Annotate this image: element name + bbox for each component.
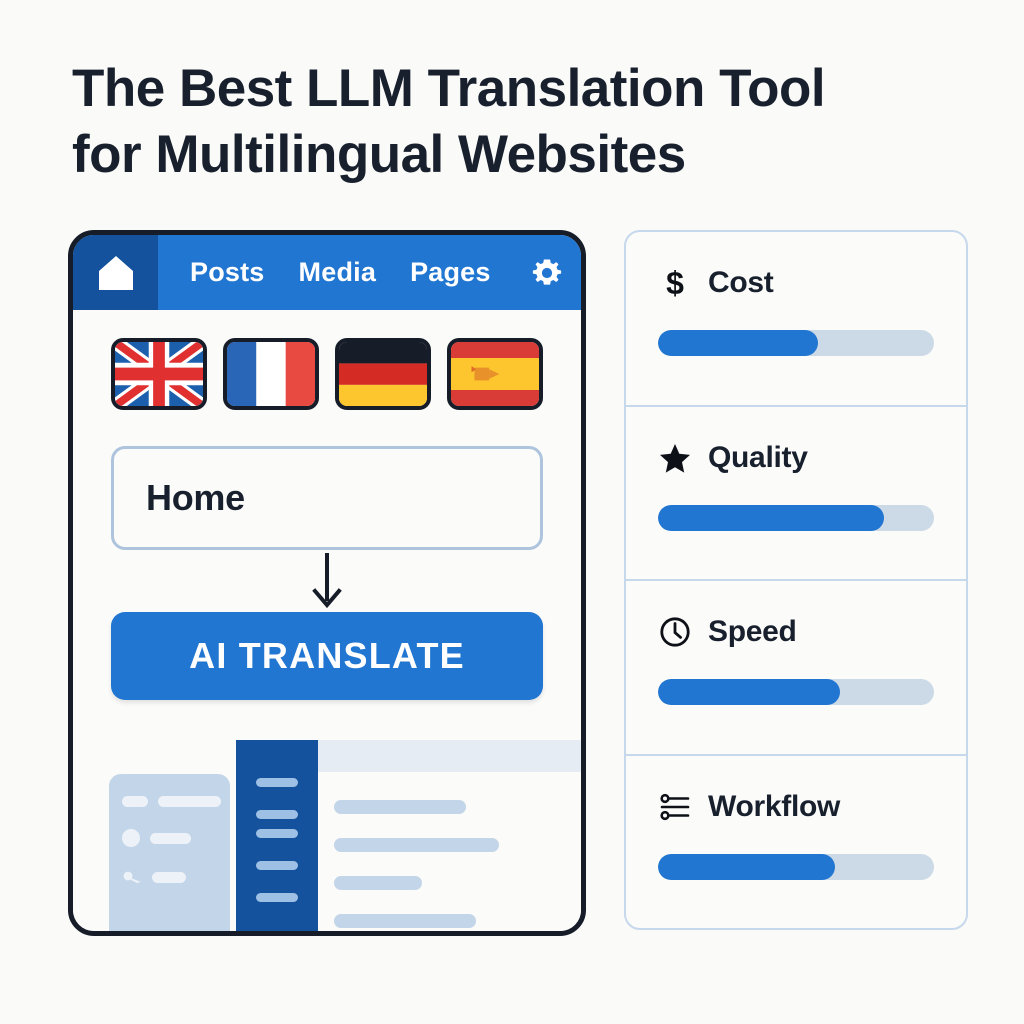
page-title-line-1: The Best LLM Translation Tool — [72, 56, 912, 122]
content-skeleton — [73, 740, 581, 931]
metric-progress-track — [658, 330, 934, 356]
page-title-line-2: for Multilingual Websites — [72, 122, 912, 188]
france-flag-icon — [227, 342, 315, 406]
spain-flag-icon — [451, 342, 539, 406]
skeleton-text-line — [334, 800, 466, 814]
metric-header: Workflow — [658, 790, 934, 824]
page-title: The Best LLM Translation Tool for Multil… — [72, 56, 912, 187]
ai-translate-button[interactable]: AI TRANSLATE — [111, 612, 543, 700]
skeleton-left-column — [73, 740, 236, 931]
skeleton-header-band — [318, 740, 581, 772]
page-name-input[interactable]: Home — [111, 446, 543, 550]
skeleton-chip — [150, 833, 191, 844]
skeleton-card — [109, 774, 230, 931]
skeleton-row — [109, 847, 230, 885]
nav-item-pages[interactable]: Pages — [410, 257, 491, 288]
metric-progress-fill — [658, 854, 835, 880]
skeleton-chip — [152, 872, 186, 883]
metric-progress-track — [658, 505, 934, 531]
dollar-icon: $ — [658, 266, 692, 300]
page-name-value: Home — [146, 477, 245, 519]
metric-progress-fill — [658, 505, 884, 531]
skeleton-avatar — [122, 829, 140, 847]
skeleton-chip — [122, 796, 148, 807]
nav-links: Posts Media Pages — [190, 257, 491, 288]
metric-card-quality: Quality — [624, 405, 968, 582]
skeleton-text-line — [334, 876, 422, 890]
arrow-down-icon — [310, 553, 344, 609]
skeleton-nav-pill — [256, 778, 298, 787]
admin-navbar: Posts Media Pages — [73, 235, 581, 310]
key-icon — [122, 869, 142, 885]
nav-item-media[interactable]: Media — [299, 257, 377, 288]
admin-mockup-frame: Posts Media Pages — [68, 230, 586, 936]
skeleton-nav-pill — [256, 893, 298, 902]
metric-label: Cost — [708, 266, 773, 300]
flag-united-kingdom[interactable] — [111, 338, 207, 410]
sliders-icon — [658, 790, 692, 824]
germany-flag-icon — [339, 342, 427, 406]
nav-home-button[interactable] — [73, 235, 158, 310]
united-kingdom-flag-icon — [115, 342, 203, 406]
skeleton-nav-pill — [256, 829, 298, 838]
flow-arrow — [73, 550, 581, 612]
metric-header: Speed — [658, 615, 934, 649]
flag-spain[interactable] — [447, 338, 543, 410]
skeleton-sidebar — [236, 740, 318, 931]
gear-icon — [529, 255, 565, 291]
metric-label: Speed — [708, 615, 797, 649]
skeleton-text-line — [334, 838, 499, 852]
ai-translate-label: AI TRANSLATE — [189, 635, 465, 677]
svg-text:$: $ — [666, 266, 684, 300]
star-icon — [658, 441, 692, 475]
metric-card-workflow: Workflow — [624, 754, 968, 931]
metric-label: Workflow — [708, 790, 840, 824]
skeleton-chip — [158, 796, 221, 807]
metric-label: Quality — [708, 441, 808, 475]
clock-icon — [658, 615, 692, 649]
flag-france[interactable] — [223, 338, 319, 410]
metric-progress-track — [658, 854, 934, 880]
skeleton-text-line — [334, 914, 476, 928]
metrics-panel: $ Cost Quality Speed — [624, 230, 968, 936]
metric-header: Quality — [658, 441, 934, 475]
flag-germany[interactable] — [335, 338, 431, 410]
metric-header: $ Cost — [658, 266, 934, 300]
metric-card-speed: Speed — [624, 579, 968, 756]
nav-settings-button[interactable] — [529, 255, 565, 291]
metric-progress-fill — [658, 679, 840, 705]
language-flags — [73, 310, 581, 410]
skeleton-row — [109, 774, 230, 807]
skeleton-nav-pill — [256, 810, 298, 819]
nav-item-posts[interactable]: Posts — [190, 257, 265, 288]
metric-progress-track — [658, 679, 934, 705]
skeleton-content-column — [318, 740, 581, 931]
skeleton-nav-pill — [256, 861, 298, 870]
home-icon — [96, 254, 136, 292]
skeleton-row — [109, 807, 230, 847]
metric-card-cost: $ Cost — [624, 230, 968, 407]
metric-progress-fill — [658, 330, 818, 356]
